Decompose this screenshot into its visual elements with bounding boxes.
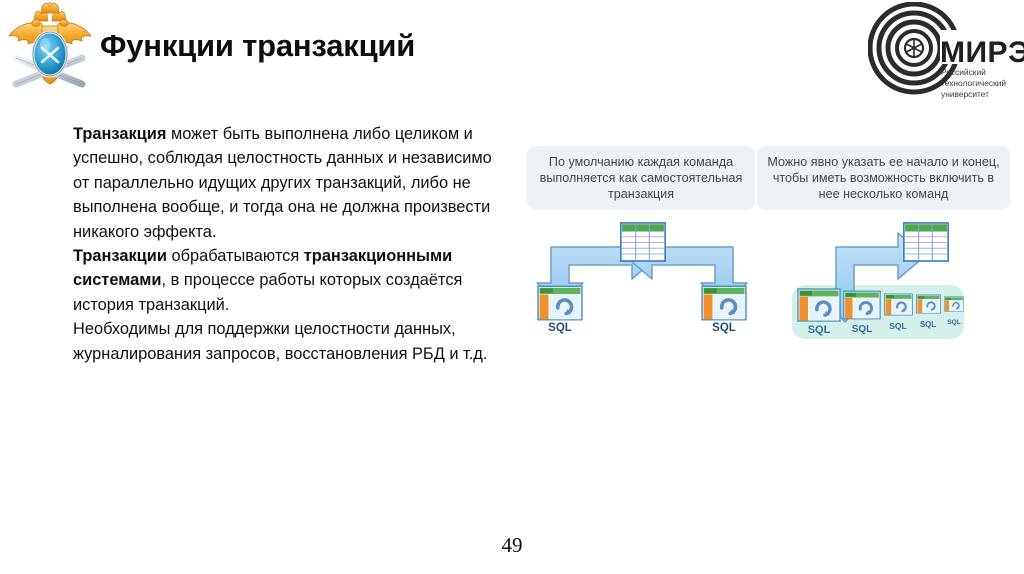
sql-transaction-icon [944,297,963,312]
sql-node-1-label: SQL [808,324,831,336]
sql-node-5-label: SQL [947,319,961,326]
sql-transaction-icon [844,291,880,319]
left-panel-diagram: SQL SQL [537,223,747,334]
sql-node-2: SQL [702,286,746,334]
transaction-diagram: SQL SQL SQL SQL [0,0,1024,574]
sql-transaction-icon [538,286,582,319]
page-number: 49 [0,533,1024,558]
sql-node-1-label: SQL [548,322,572,334]
right-panel-diagram: SQL SQL SQL SQL SQL [792,223,964,339]
sql-node-2-label: SQL [712,322,736,334]
sql-node-1: SQL [538,286,582,334]
sql-node-2-label: SQL [852,324,873,335]
sql-transaction-icon [798,289,840,321]
sql-transaction-icon [885,294,913,315]
sql-node-4-label: SQL [920,320,936,329]
sql-node-5: SQL [944,297,963,326]
database-table-icon [621,223,665,261]
sql-transaction-icon [917,295,941,313]
sql-transaction-icon [702,286,746,319]
database-table-icon [904,223,948,261]
slide-canvas: Функции транзакций МИРЭА Российский техн… [0,0,1024,574]
sql-node-3-label: SQL [889,321,906,331]
